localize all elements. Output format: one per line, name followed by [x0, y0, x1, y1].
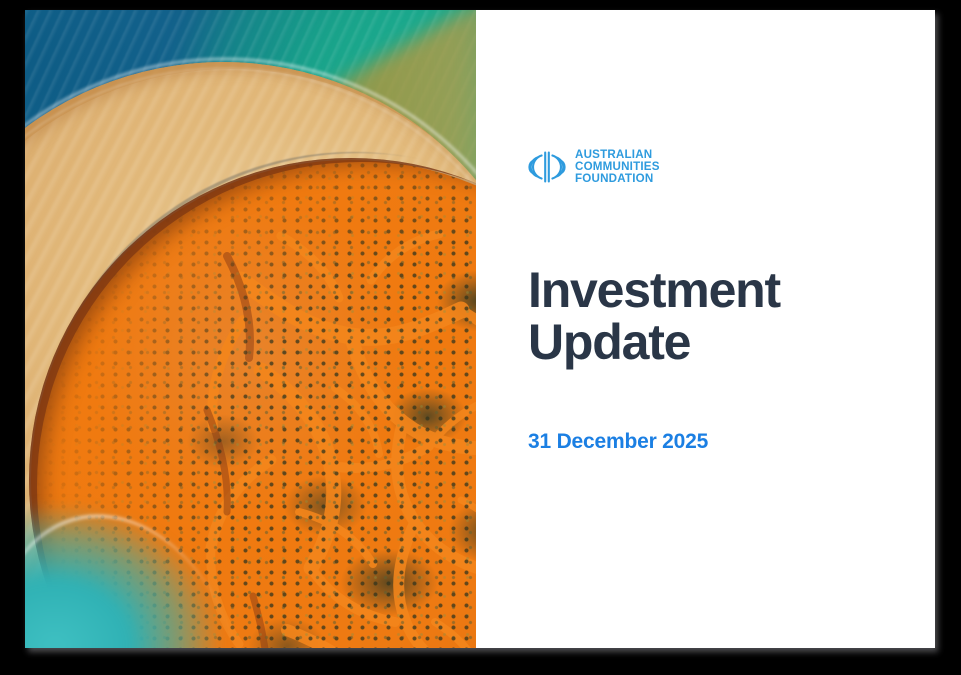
document-page: AUSTRALIAN COMMUNITIES FOUNDATION Invest…: [25, 10, 935, 648]
page-title: Investment Update: [528, 265, 780, 368]
report-date: 31 December 2025: [528, 430, 708, 454]
brand-wordmark: AUSTRALIAN COMMUNITIES FOUNDATION: [575, 149, 660, 185]
brand-logo: AUSTRALIAN COMMUNITIES FOUNDATION: [528, 148, 660, 186]
screenshot-viewport: AUSTRALIAN COMMUNITIES FOUNDATION Invest…: [0, 0, 961, 675]
cover-photo: [25, 10, 476, 648]
title-panel: AUSTRALIAN COMMUNITIES FOUNDATION Invest…: [476, 10, 935, 648]
brand-line-3: FOUNDATION: [575, 173, 660, 185]
acf-wave-mark-icon: [528, 148, 566, 186]
